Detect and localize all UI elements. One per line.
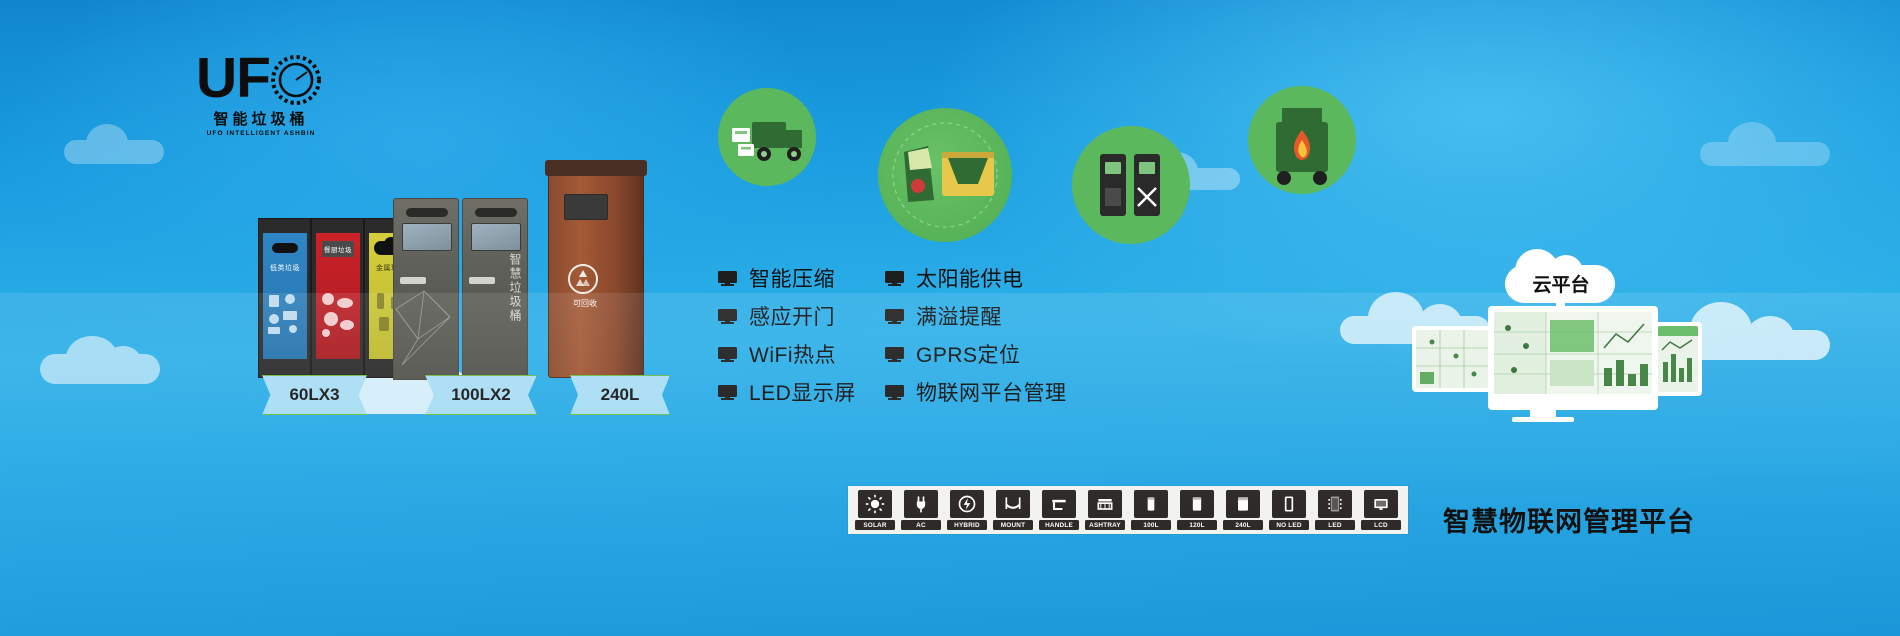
twin-smart-bin-icon	[1072, 126, 1190, 244]
spec-icon-ashtray: ASHTRAY	[1085, 490, 1125, 530]
ufo-ring-icon	[271, 55, 321, 105]
solar-panel-bin-icon	[878, 108, 1012, 242]
tablet-right	[1654, 322, 1702, 396]
twin-bin-circle	[1072, 126, 1190, 244]
lcd-screen-icon	[1371, 494, 1391, 514]
map-chart-graphic	[1416, 330, 1488, 388]
feature-item: GPRS定位	[885, 338, 1067, 370]
cloud-platform-badge: 云平台	[1497, 247, 1625, 305]
cloud-decoration	[64, 120, 184, 170]
sun-icon	[865, 494, 885, 514]
screen-bullet-icon	[718, 271, 737, 286]
feature-list-right: 太阳能供电 满溢提醒 GPRS定位 物联网平台管理	[885, 262, 1067, 414]
screen-bullet-icon	[885, 347, 904, 362]
feature-item: 物联网平台管理	[885, 376, 1067, 408]
tablet-left	[1412, 326, 1492, 392]
desktop-monitor	[1488, 306, 1658, 410]
feature-item: 感应开门	[718, 300, 856, 332]
iot-platform-devices	[1410, 300, 1740, 425]
feature-item: LED显示屏	[718, 376, 856, 408]
logo-english-name: UFO INTELLIGENT ASHBIN	[196, 130, 326, 137]
screen-bullet-icon	[718, 309, 737, 324]
recycle-symbol-icon	[568, 264, 598, 294]
ashtray-icon	[1095, 494, 1115, 514]
monitor-base	[1512, 417, 1574, 422]
power-plug-icon	[911, 494, 931, 514]
feature-item: 太阳能供电	[885, 262, 1067, 294]
dual-smart-compactor-bin: 智慧垃圾桶	[393, 198, 530, 380]
brand-logo: UF 智能垃圾桶 UFO INTELLIGENT ASHBIN	[196, 52, 326, 152]
single-recycling-bin: 可回收	[548, 168, 644, 378]
fire-detection-icon	[1248, 86, 1356, 194]
hybrid-power-icon	[957, 494, 977, 514]
promo-banner: UF 智能垃圾桶 UFO INTELLIGENT ASHBIN 低类垃圾	[0, 0, 1900, 636]
cloud-platform-label: 云平台	[1497, 247, 1625, 305]
recycle-illustration-blue	[263, 285, 307, 341]
logo-chinese-name: 智能垃圾桶	[196, 108, 326, 129]
mobile-chart-graphic	[1658, 326, 1698, 392]
spec-icon-240l: 240L	[1223, 490, 1263, 530]
wall-mount-icon	[1003, 494, 1023, 514]
spec-icon-mount: MOUNT	[993, 490, 1033, 530]
spec-icon-handle: HANDLE	[1039, 490, 1079, 530]
platform-caption: 智慧物联网管理平台	[1443, 500, 1695, 539]
bin-label-red: 餐厨垃圾	[316, 244, 360, 254]
cloud-decoration	[40, 330, 190, 390]
product-label-60lx3: 60LX3	[262, 375, 367, 415]
spec-icon-hybrid: HYBRID	[947, 490, 987, 530]
dashboard-graphic	[1494, 312, 1652, 394]
bin-240l-icon	[1233, 494, 1253, 514]
screen-bullet-icon	[718, 385, 737, 400]
feature-item: WiFi热点	[718, 338, 856, 370]
feature-item: 满溢提醒	[885, 300, 1067, 332]
bin-label-blue: 低类垃圾	[263, 263, 307, 273]
spec-icon-no-led: NO LED	[1269, 490, 1309, 530]
spec-icon-lcd: LCD	[1361, 490, 1401, 530]
led-panel-icon	[1325, 494, 1345, 514]
feature-list-left: 智能压缩 感应开门 WiFi热点 LED显示屏	[718, 262, 856, 414]
spec-icon-100l: 100L	[1131, 490, 1171, 530]
logo-wordmark: UF	[196, 52, 270, 104]
bin-100l-icon	[1141, 494, 1161, 514]
garbage-truck-icon	[718, 88, 816, 186]
cloud-decoration	[1700, 120, 1850, 170]
screen-bullet-icon	[718, 347, 737, 362]
spec-icon-strip: SOLAR AC HYBRID MOUNT	[848, 486, 1408, 534]
bin-vertical-label: 智慧垃圾桶	[507, 253, 524, 323]
handle-icon	[1049, 494, 1069, 514]
product-label-100lx2: 100LX2	[425, 375, 537, 415]
fire-alarm-circle	[1248, 86, 1356, 194]
spec-icon-ac: AC	[901, 490, 941, 530]
spec-icon-led: LED	[1315, 490, 1355, 530]
no-led-icon	[1279, 494, 1299, 514]
screen-bullet-icon	[885, 271, 904, 286]
bin-recycle-label: 可回收	[562, 298, 608, 309]
compaction-truck-circle	[718, 88, 816, 186]
polygon-graphic	[394, 269, 460, 379]
bin-120l-icon	[1187, 494, 1207, 514]
spec-icon-solar: SOLAR	[855, 490, 895, 530]
screen-bullet-icon	[885, 385, 904, 400]
screen-bullet-icon	[885, 309, 904, 324]
product-label-240l: 240L	[570, 375, 670, 415]
feature-item: 智能压缩	[718, 262, 856, 294]
solar-bin-circle	[878, 108, 1012, 242]
spec-icon-120l: 120L	[1177, 490, 1217, 530]
food-waste-illustration	[316, 285, 360, 341]
